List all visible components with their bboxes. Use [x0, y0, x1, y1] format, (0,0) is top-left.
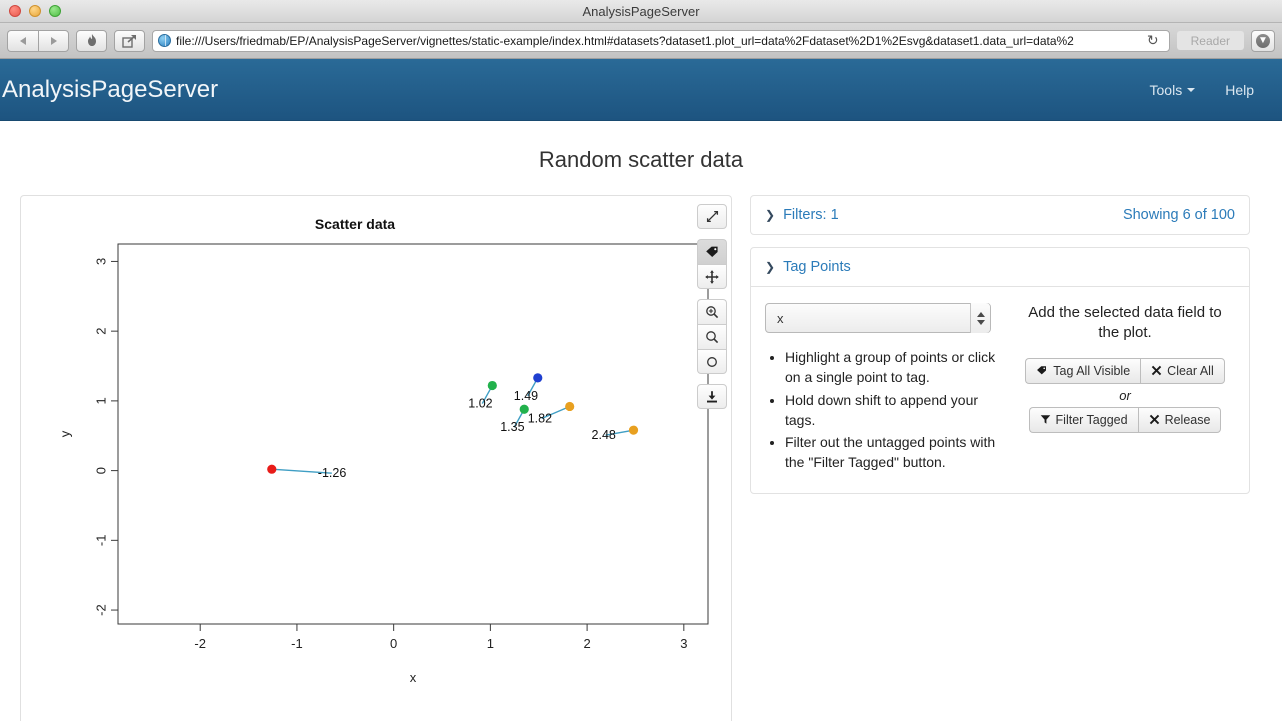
data-field-select-value: x — [777, 311, 784, 326]
tag-icon — [705, 245, 720, 259]
window-titlebar: AnalysisPageServer — [0, 0, 1282, 23]
downloads-button[interactable]: ▼ — [1251, 30, 1275, 52]
web-page: AnalysisPageServer Tools Help Random sca… — [0, 59, 1282, 721]
tag-all-visible-button[interactable]: Tag All Visible — [1025, 358, 1140, 384]
x-tick-label: 0 — [390, 636, 397, 651]
flame-icon — [85, 33, 99, 48]
scatter-plot-svg[interactable]: -2-10123x-2-10123y-1.261.021.491.351.822… — [21, 232, 721, 702]
page-title: Random scatter data — [0, 121, 1282, 195]
plot-tool-group-download — [697, 384, 727, 409]
tag-points-header-left: ❯ Tag Points — [765, 259, 851, 275]
close-icon — [1151, 365, 1162, 376]
chevron-down-icon: ❯ — [765, 261, 775, 273]
y-tick-label: -1 — [93, 535, 108, 547]
forward-button[interactable] — [38, 30, 69, 52]
app-brand[interactable]: AnalysisPageServer — [0, 76, 218, 104]
move-icon — [705, 270, 719, 284]
scatter-point[interactable] — [565, 402, 574, 411]
reload-icon[interactable]: ↻ — [1141, 32, 1165, 49]
share-button[interactable] — [114, 30, 145, 52]
reader-button[interactable]: Reader — [1177, 31, 1244, 50]
y-tick-label: -2 — [93, 604, 108, 616]
x-tick-label: 2 — [583, 636, 590, 651]
scatter-point[interactable] — [488, 381, 497, 390]
circle-icon — [705, 355, 719, 369]
tag-points-title[interactable]: Tag Points — [783, 259, 851, 275]
x-tick-label: 1 — [487, 636, 494, 651]
triangle-left-icon — [20, 37, 26, 45]
nav-tools-label: Tools — [1150, 82, 1183, 98]
tag-points-left-column: x Highlight a group of points or click o… — [765, 303, 1007, 475]
side-panels: ❯ Filters: 1 Showing 6 of 100 ❯ Tag Poin… — [750, 195, 1250, 494]
point-label: 1.35 — [500, 420, 524, 434]
zoom-in-icon — [705, 305, 719, 319]
plot-tool-expand[interactable] — [697, 204, 727, 229]
instruction-item: Hold down shift to append your tags. — [785, 390, 1007, 431]
nav-help-label: Help — [1225, 82, 1254, 98]
plot-tool-group-expand — [697, 204, 727, 229]
caret-down-icon — [1187, 88, 1195, 92]
y-tick-label: 3 — [93, 258, 108, 265]
tag-button-group-2: Filter Tagged Release — [1029, 407, 1222, 433]
point-label: -1.26 — [318, 466, 347, 480]
plot-tool-group-zoom — [697, 299, 727, 374]
share-icon — [122, 34, 137, 48]
y-tick-label: 1 — [93, 397, 108, 404]
scatter-plot[interactable]: -2-10123x-2-10123y-1.261.021.491.351.822… — [21, 232, 731, 707]
plot-tool-move[interactable] — [697, 264, 727, 289]
release-button[interactable]: Release — [1138, 407, 1222, 433]
zoom-window-button[interactable] — [49, 5, 61, 17]
plot-title: Scatter data — [21, 196, 689, 232]
clear-all-button[interactable]: Clear All — [1140, 358, 1225, 384]
filters-label[interactable]: Filters: 1 — [783, 207, 839, 223]
chevron-right-icon: ❯ — [765, 209, 775, 221]
filters-header-left: ❯ Filters: 1 — [765, 207, 839, 223]
tag-icon — [1036, 365, 1048, 376]
close-window-button[interactable] — [9, 5, 21, 17]
tag-points-header[interactable]: ❯ Tag Points — [751, 248, 1249, 287]
extension-button[interactable] — [76, 30, 107, 52]
triangle-right-icon — [51, 37, 57, 45]
or-separator: or — [1119, 388, 1131, 403]
filter-tagged-button[interactable]: Filter Tagged — [1029, 407, 1138, 433]
clear-all-label: Clear All — [1167, 364, 1214, 378]
globe-icon — [158, 34, 171, 47]
scatter-point[interactable] — [533, 373, 542, 382]
release-label: Release — [1165, 413, 1211, 427]
tag-points-card: ❯ Tag Points x Highlight a grou — [750, 247, 1250, 494]
x-tick-label: -1 — [291, 636, 303, 651]
stepper-up-icon — [977, 312, 985, 317]
plot-tool-download[interactable] — [697, 384, 727, 409]
plot-toolbar — [697, 204, 727, 409]
download-icon — [705, 390, 719, 404]
navbar-links: Tools Help — [1150, 82, 1254, 98]
scatter-point[interactable] — [629, 426, 638, 435]
plot-tool-tag[interactable] — [697, 239, 727, 264]
stepper-icon[interactable] — [970, 303, 990, 333]
instruction-item: Filter out the untagged points with the … — [785, 432, 1007, 473]
tag-points-body: x Highlight a group of points or click o… — [751, 287, 1249, 493]
x-tick-label: -2 — [194, 636, 206, 651]
y-axis-label: y — [57, 430, 72, 437]
expand-icon — [706, 210, 719, 223]
instruction-item: Highlight a group of points or click on … — [785, 347, 1007, 388]
app-navbar: AnalysisPageServer Tools Help — [0, 59, 1282, 121]
instructions-list: Highlight a group of points or click on … — [765, 347, 1007, 473]
y-tick-label: 2 — [93, 328, 108, 335]
main-content: Scatter data -2-10123x-2-10123y-1.261.02… — [0, 195, 1282, 721]
x-axis-label: x — [410, 670, 417, 685]
plot-tool-group-select — [697, 239, 727, 289]
back-button[interactable] — [7, 30, 38, 52]
url-text: file:///Users/friedmab/EP/AnalysisPageSe… — [176, 34, 1141, 48]
plot-tool-zoom-in[interactable] — [697, 299, 727, 324]
plot-tool-zoom-out[interactable] — [697, 324, 727, 349]
y-tick-label: 0 — [93, 467, 108, 474]
x-tick-label: 3 — [680, 636, 687, 651]
data-field-select[interactable]: x — [765, 303, 991, 333]
browser-toolbar: file:///Users/friedmab/EP/AnalysisPageSe… — [0, 23, 1282, 59]
window-title: AnalysisPageServer — [0, 4, 1282, 19]
filter-icon — [1040, 414, 1051, 425]
point-label: 1.02 — [468, 397, 492, 411]
plot-tool-reset[interactable] — [697, 349, 727, 374]
filters-card: ❯ Filters: 1 Showing 6 of 100 — [750, 195, 1250, 235]
showing-count: Showing 6 of 100 — [1123, 207, 1235, 223]
minimize-window-button[interactable] — [29, 5, 41, 17]
address-bar[interactable]: file:///Users/friedmab/EP/AnalysisPageSe… — [152, 30, 1170, 52]
filters-header[interactable]: ❯ Filters: 1 Showing 6 of 100 — [751, 196, 1249, 234]
point-label: 1.49 — [514, 389, 538, 403]
tag-points-right-column: Add the selected data field to the plot. — [1015, 303, 1235, 475]
tag-points-hint: Add the selected data field to the plot. — [1015, 303, 1235, 344]
downloads-icon: ▼ — [1256, 34, 1270, 48]
window-traffic-lights — [9, 5, 61, 17]
scatter-point[interactable] — [267, 465, 276, 474]
tag-all-visible-label: Tag All Visible — [1053, 364, 1130, 378]
plot-frame — [118, 244, 708, 624]
nav-tools-menu[interactable]: Tools — [1150, 82, 1196, 98]
point-label: 1.82 — [528, 411, 552, 425]
zoom-out-icon — [705, 330, 719, 344]
nav-button-group — [7, 30, 69, 52]
tag-action-buttons: Tag All Visible Clear All — [1015, 358, 1235, 433]
nav-help-link[interactable]: Help — [1225, 82, 1254, 98]
filter-tagged-label: Filter Tagged — [1056, 413, 1128, 427]
stepper-down-icon — [977, 320, 985, 325]
plot-panel: Scatter data -2-10123x-2-10123y-1.261.02… — [20, 195, 732, 721]
tag-button-group-1: Tag All Visible Clear All — [1025, 358, 1224, 384]
close-icon — [1149, 414, 1160, 425]
point-label: 2.48 — [592, 428, 616, 442]
